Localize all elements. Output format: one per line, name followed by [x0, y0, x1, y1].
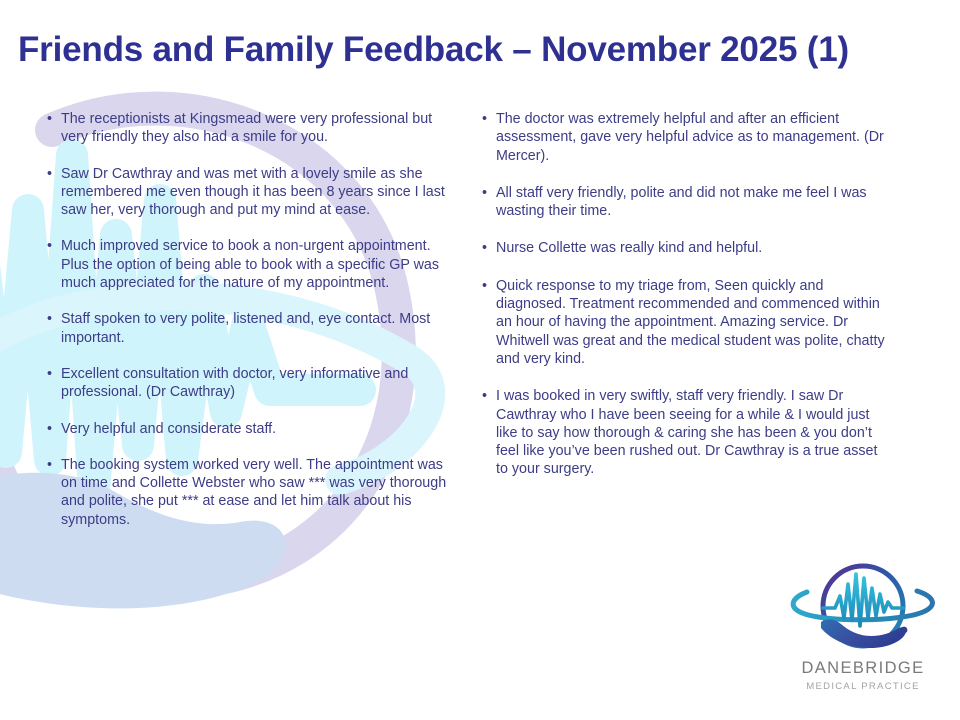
slide: Friends and Family Feedback – November 2… [0, 0, 960, 720]
list-item: • Saw Dr Cawthray and was met with a lov… [44, 165, 448, 220]
list-item: • Nurse Collette was really kind and hel… [479, 239, 891, 257]
list-item-text: The booking system worked very well. The… [61, 457, 446, 528]
logo-name: DANEBRIDGE [783, 660, 943, 677]
list-item: • I was booked in very swiftly, staff ve… [479, 387, 891, 478]
bullet-icon: • [47, 365, 52, 383]
page-title: Friends and Family Feedback – November 2… [18, 30, 942, 69]
bullet-icon: • [482, 239, 487, 257]
list-item: • The receptionists at Kingsmead were ve… [44, 110, 448, 147]
logo-hand-icon [821, 620, 907, 648]
list-item-text: Nurse Collette was really kind and helpf… [496, 240, 762, 256]
list-item-text: Staff spoken to very polite, listened an… [61, 311, 430, 345]
list-item-text: Excellent consultation with doctor, very… [61, 366, 408, 400]
feedback-column-right: • The doctor was extremely helpful and a… [479, 110, 891, 498]
bullet-icon: • [482, 277, 487, 295]
list-item: • The doctor was extremely helpful and a… [479, 110, 891, 165]
list-item-text: All staff very friendly, polite and did … [496, 185, 867, 219]
bullet-icon: • [47, 165, 52, 183]
bullet-icon: • [47, 310, 52, 328]
logo-subtitle: MEDICAL PRACTICE [783, 682, 943, 692]
feedback-column-left: • The receptionists at Kingsmead were ve… [44, 110, 448, 529]
bullet-icon: • [482, 110, 487, 128]
list-item-text: Saw Dr Cawthray and was met with a lovel… [61, 166, 445, 219]
list-item-text: Very helpful and considerate staff. [61, 421, 276, 437]
list-item: • Excellent consultation with doctor, ve… [44, 365, 448, 402]
list-item-text: The receptionists at Kingsmead were very… [61, 111, 432, 145]
feedback-list-right: • The doctor was extremely helpful and a… [479, 110, 891, 479]
list-item-text: The doctor was extremely helpful and aft… [496, 111, 884, 164]
list-item-text: Much improved service to book a non-urge… [61, 238, 439, 291]
list-item: • Very helpful and considerate staff. [44, 420, 448, 438]
list-item: • Much improved service to book a non-ur… [44, 237, 448, 292]
list-item: • All staff very friendly, polite and di… [479, 184, 891, 221]
feedback-list-left: • The receptionists at Kingsmead were ve… [44, 110, 448, 529]
list-item: • Quick response to my triage from, Seen… [479, 277, 891, 368]
bullet-icon: • [482, 184, 487, 202]
bullet-icon: • [47, 237, 52, 255]
list-item-text: I was booked in very swiftly, staff very… [496, 388, 877, 477]
danebridge-logo: DANEBRIDGE MEDICAL PRACTICE [783, 556, 943, 706]
danebridge-logo-mark [783, 556, 943, 662]
bullet-icon: • [47, 420, 52, 438]
bullet-icon: • [47, 110, 52, 128]
list-item-text: Quick response to my triage from, Seen q… [496, 278, 885, 367]
bullet-icon: • [482, 387, 487, 405]
bullet-icon: • [47, 456, 52, 474]
list-item: • The booking system worked very well. T… [44, 456, 448, 529]
list-item: • Staff spoken to very polite, listened … [44, 310, 448, 347]
